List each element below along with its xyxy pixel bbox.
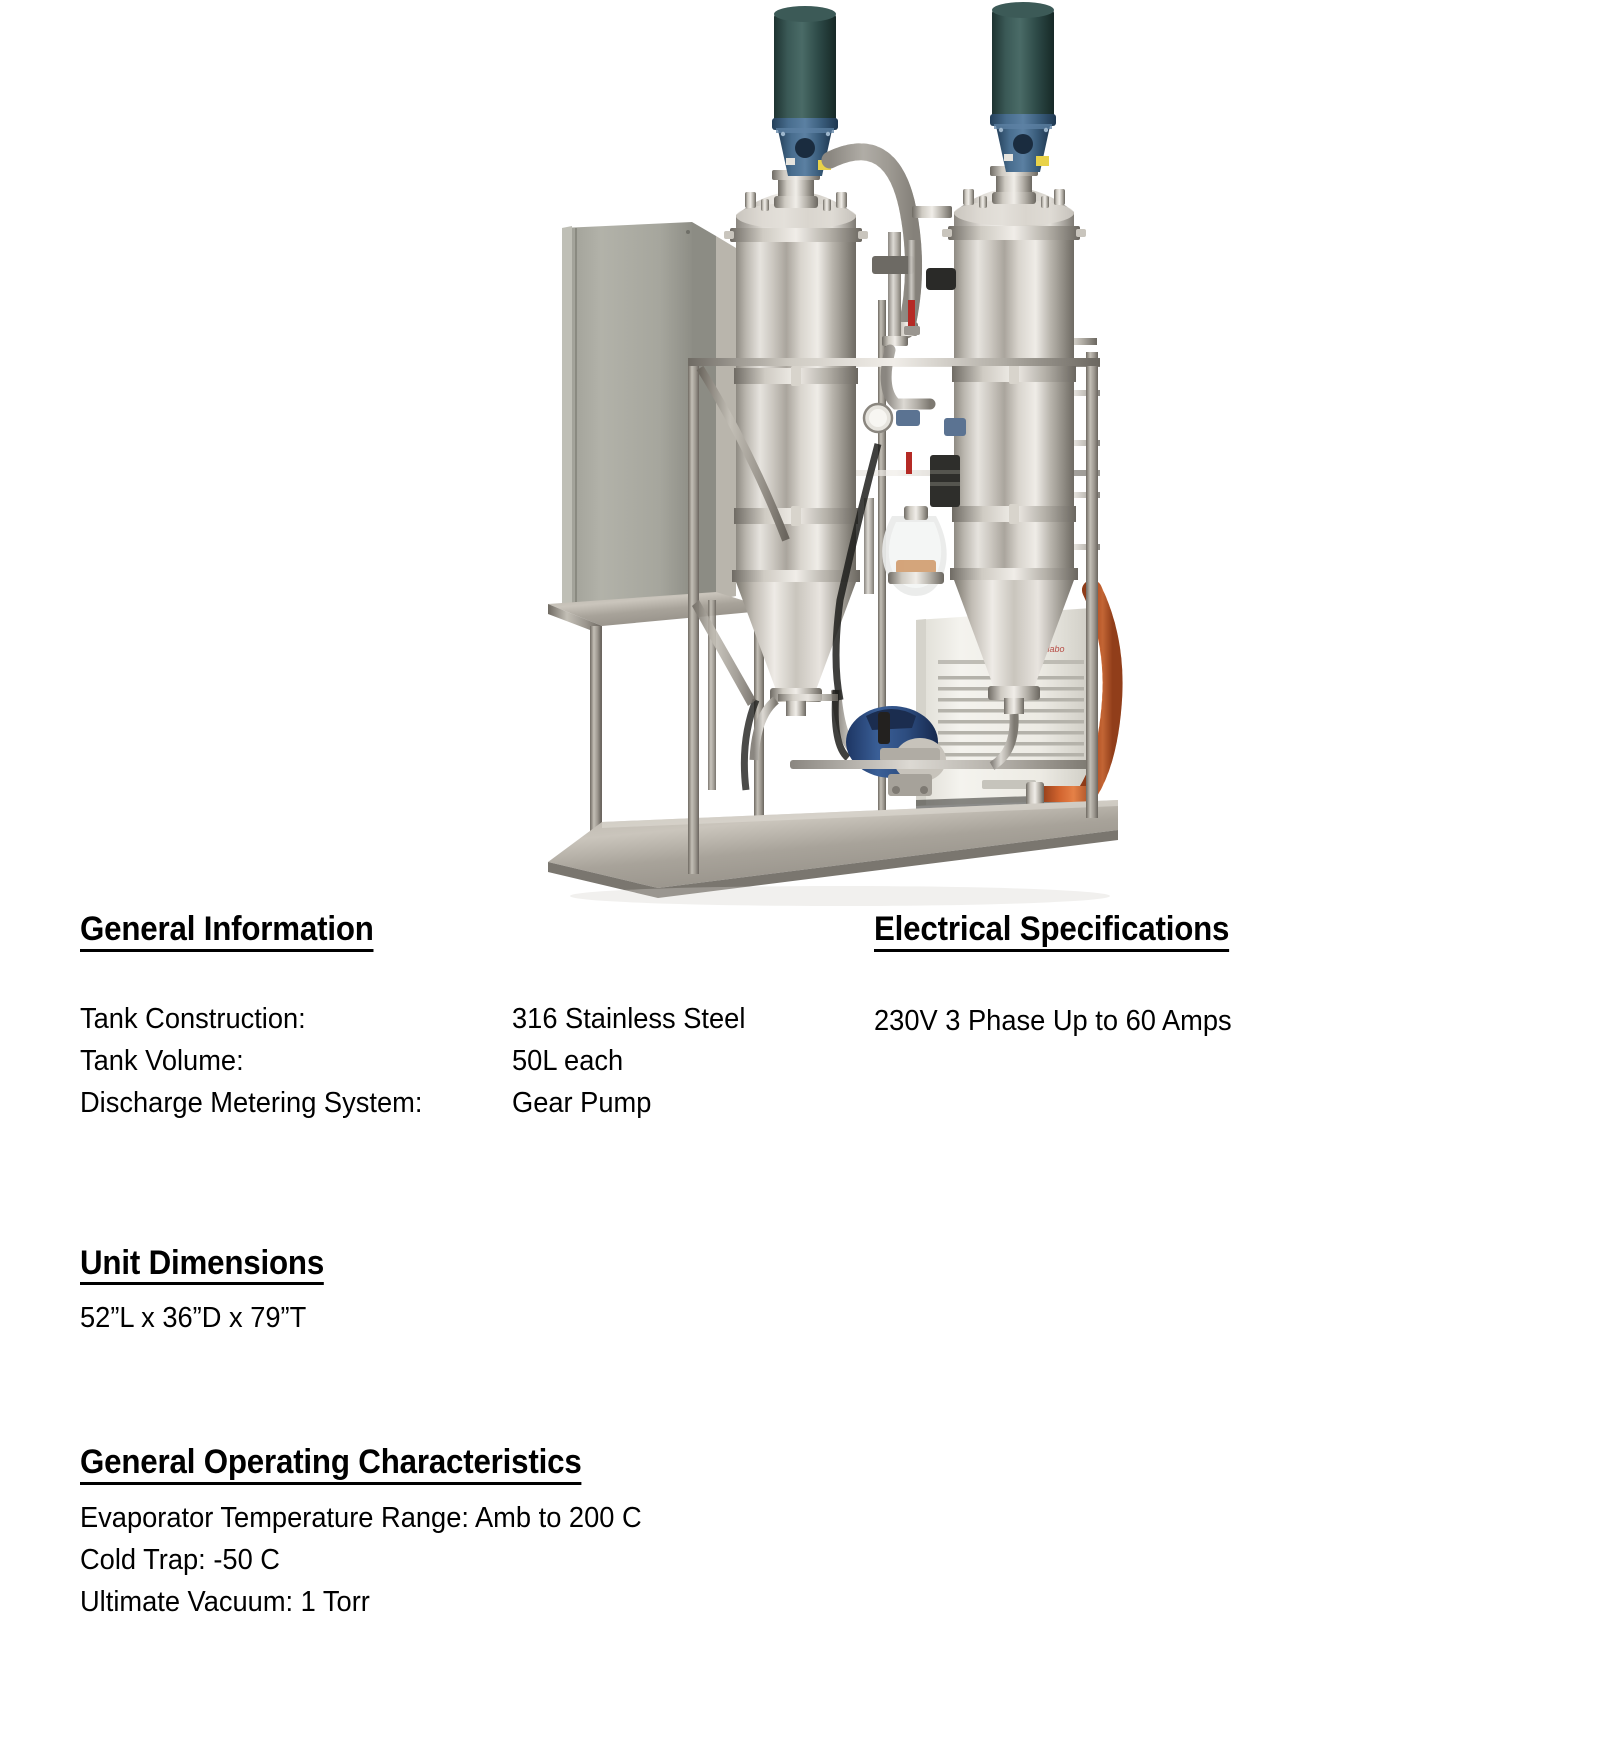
general-operating-characteristics-heading: General Operating Characteristics bbox=[80, 1445, 582, 1485]
discharge-metering-system-value: Gear Pump bbox=[512, 1082, 858, 1124]
unit-dimensions-section: Unit Dimensions 52”L x 36”D x 79”T bbox=[80, 1246, 880, 1340]
electrical-specifications-value: 230V 3 Phase Up to 60 Amps bbox=[874, 1000, 1532, 1042]
table-row: Tank Construction: 316 Stainless Steel bbox=[80, 998, 880, 1040]
evaporator-temperature-range-line: Evaporator Temperature Range: Amb to 200… bbox=[80, 1497, 832, 1539]
left-spec-column: General Information Tank Construction: 3… bbox=[80, 912, 880, 1623]
unit-dimensions-value: 52”L x 36”D x 79”T bbox=[80, 1297, 832, 1339]
sight-glass bbox=[882, 506, 947, 596]
tank-construction-value: 316 Stainless Steel bbox=[512, 998, 858, 1040]
operating-characteristics-section: General Operating Characteristics Evapor… bbox=[80, 1445, 880, 1623]
unit-dimensions-heading: Unit Dimensions bbox=[80, 1246, 324, 1286]
ultimate-vacuum-line: Ultimate Vacuum: 1 Torr bbox=[80, 1581, 832, 1623]
cold-trap-line: Cold Trap: -50 C bbox=[80, 1539, 832, 1581]
table-row: Tank Volume: 50L each bbox=[80, 1040, 880, 1082]
table-row: Discharge Metering System: Gear Pump bbox=[80, 1082, 880, 1124]
electrical-specifications-heading: Electrical Specifications bbox=[874, 912, 1229, 952]
tank-construction-label: Tank Construction: bbox=[80, 998, 486, 1040]
tank-volume-label: Tank Volume: bbox=[80, 1040, 486, 1082]
control-cabinet-group bbox=[562, 222, 736, 612]
discharge-metering-system-label: Discharge Metering System: bbox=[80, 1082, 486, 1124]
tank-volume-value: 50L each bbox=[512, 1040, 858, 1082]
right-spec-column: Electrical Specifications 230V 3 Phase U… bbox=[874, 912, 1574, 1042]
general-information-heading: General Information bbox=[80, 912, 374, 952]
product-photo: Julabo bbox=[540, 0, 1140, 910]
general-information-table: Tank Construction: 316 Stainless Steel T… bbox=[80, 998, 880, 1124]
